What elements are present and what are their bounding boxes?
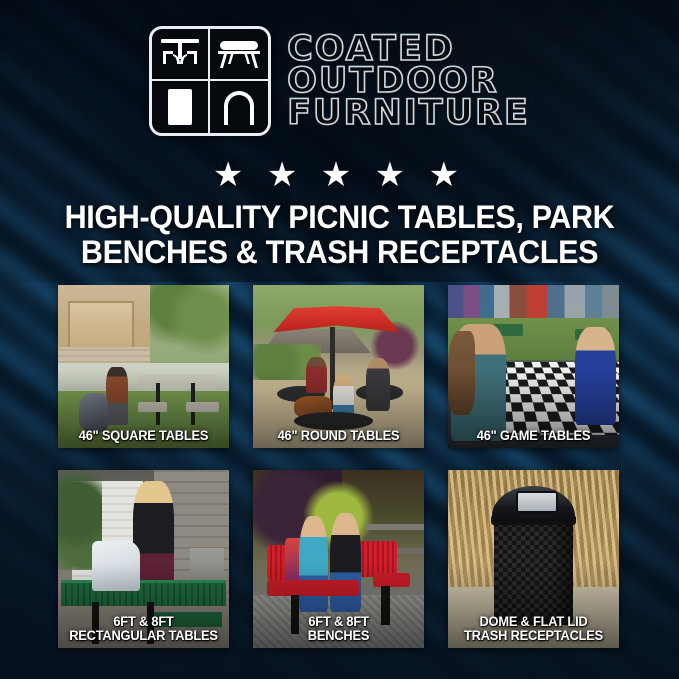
product-tile-rectangular-tables[interactable]: 6FT & 8FT RECTANGULAR TABLES <box>58 470 229 648</box>
product-caption: 6FT & 8FT RECTANGULAR TABLES <box>64 615 223 643</box>
page-title: HIGH-QUALITY PICNIC TABLES, PARK BENCHES… <box>49 200 631 270</box>
caption-line-1: 46" SQUARE TABLES <box>79 428 208 443</box>
logo-icon-grid <box>149 26 271 136</box>
caption-line-1: 6FT & 8FT <box>113 614 173 629</box>
caption-line-1: 46" ROUND TABLES <box>278 428 400 443</box>
caption-line-2: TRASH RECEPTACLES <box>454 629 613 643</box>
product-tile-benches[interactable]: 6FT & 8FT BENCHES <box>253 470 424 648</box>
product-tile-game-tables[interactable]: 46" GAME TABLES <box>448 285 619 448</box>
tile-overlay <box>58 285 229 448</box>
star-rating: ★ ★ ★ ★ ★ <box>0 158 679 192</box>
caption-line-1: 6FT & 8FT <box>308 614 368 629</box>
headline-line-1: HIGH-QUALITY PICNIC TABLES, PARK <box>65 199 615 235</box>
product-caption: 6FT & 8FT BENCHES <box>259 615 418 643</box>
product-tile-trash-receptacles[interactable]: DOME & FLAT LID TRASH RECEPTACLES <box>448 470 619 648</box>
product-caption: 46" GAME TABLES <box>454 429 613 443</box>
caption-line-1: DOME & FLAT LID <box>479 614 587 629</box>
product-caption: 46" ROUND TABLES <box>259 429 418 443</box>
product-caption: DOME & FLAT LID TRASH RECEPTACLES <box>454 615 613 643</box>
bike-rack-arch-icon <box>210 81 268 133</box>
caption-line-2: BENCHES <box>259 629 418 643</box>
headline-line-2: BENCHES & TRASH RECEPTACLES <box>49 235 631 270</box>
promo-banner: COATED OUTDOOR FURNITURE ★ ★ ★ ★ ★ HIGH-… <box>0 0 679 679</box>
product-grid: 46" SQUARE TABLES 46" ROUND TABLES <box>58 285 622 648</box>
wordmark-line-3: FURNITURE <box>287 97 530 129</box>
product-caption: 46" SQUARE TABLES <box>64 429 223 443</box>
tile-overlay <box>253 285 424 448</box>
product-tile-round-tables[interactable]: 46" ROUND TABLES <box>253 285 424 448</box>
picnic-table-icon <box>152 29 210 81</box>
caption-line-2: RECTANGULAR TABLES <box>64 629 223 643</box>
trash-receptacle-icon <box>152 81 210 133</box>
caption-line-1: 46" GAME TABLES <box>477 428 590 443</box>
brand-logo: COATED OUTDOOR FURNITURE <box>0 26 679 136</box>
bench-icon <box>210 29 268 81</box>
tile-overlay <box>448 285 619 448</box>
brand-wordmark: COATED OUTDOOR FURNITURE <box>287 33 530 130</box>
product-tile-square-tables[interactable]: 46" SQUARE TABLES <box>58 285 229 448</box>
